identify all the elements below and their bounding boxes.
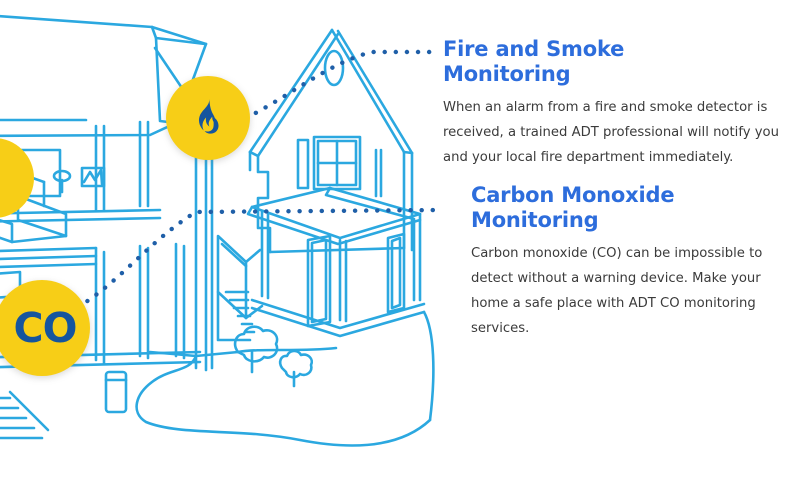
body-carbon-monoxide: Carbon monoxide (CO) can be impossible t… [471, 241, 793, 341]
text-column: Fire and Smoke Monitoring When an alarm … [441, 0, 800, 488]
heading-line-2: Monitoring [443, 62, 570, 86]
heading-fire-and-smoke: Fire and Smoke Monitoring [443, 37, 800, 87]
body-fire-and-smoke: When an alarm from a fire and smoke dete… [443, 95, 791, 170]
heading-line-1: Fire and Smoke [443, 37, 624, 61]
dotted-connector-co [0, 0, 440, 488]
content-block-fire-and-smoke: Fire and Smoke Monitoring When an alarm … [441, 37, 800, 170]
infographic-root: CO Fire and Smoke Monitoring When an ala… [0, 0, 800, 488]
content-block-carbon-monoxide: Carbon Monoxide Monitoring Carbon monoxi… [441, 183, 800, 341]
heading-line-1: Carbon Monoxide [471, 183, 674, 207]
co-label: CO [8, 308, 77, 349]
heading-line-2: Monitoring [471, 208, 598, 232]
flame-icon [185, 95, 231, 141]
heading-carbon-monoxide: Carbon Monoxide Monitoring [471, 183, 800, 233]
badge-fire-smoke[interactable] [166, 76, 250, 160]
